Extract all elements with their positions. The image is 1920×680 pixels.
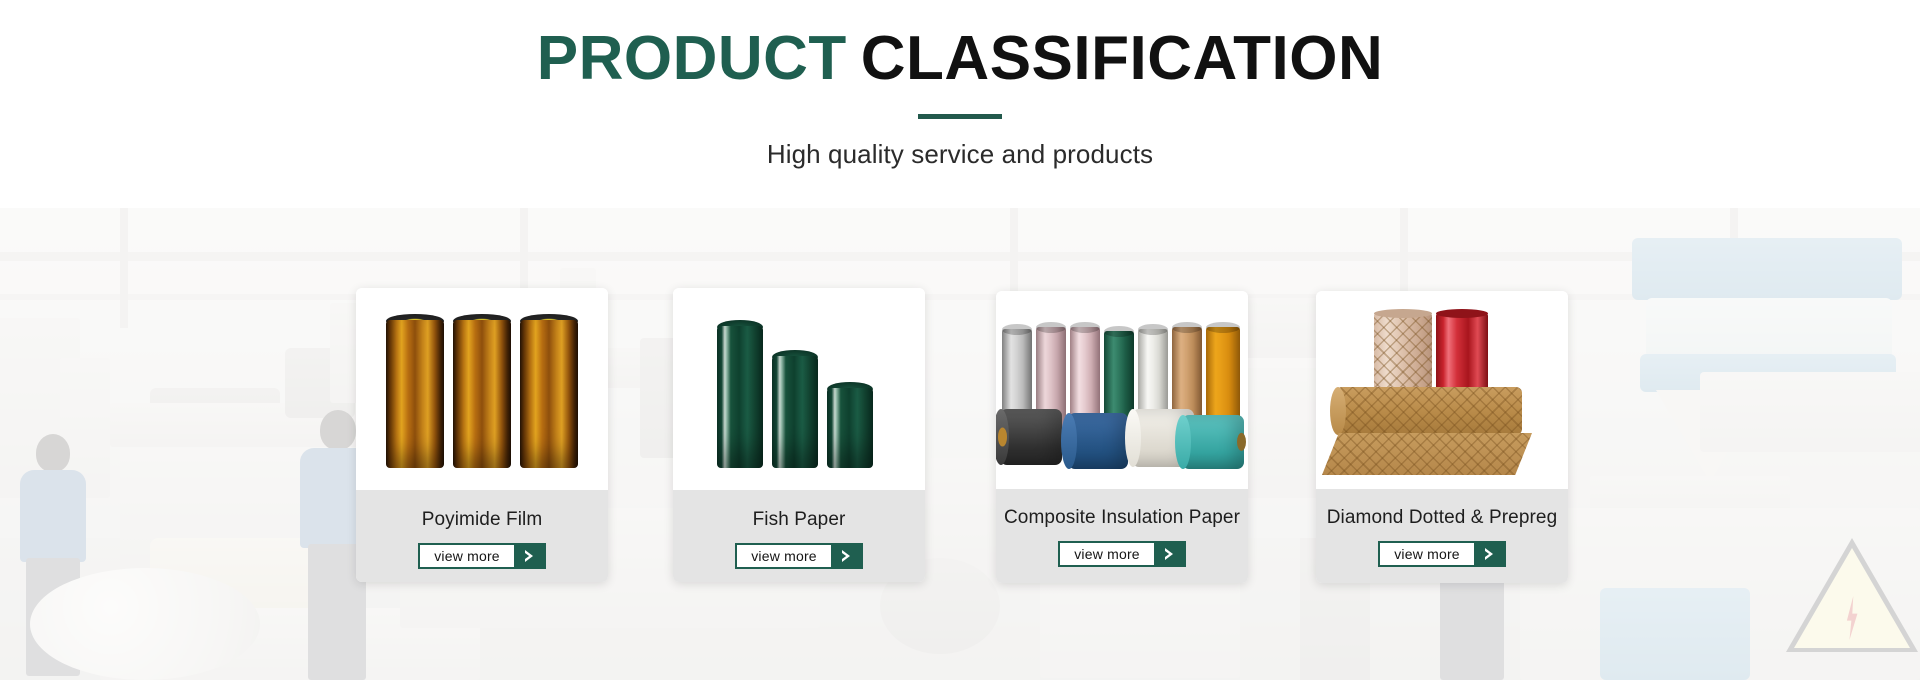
view-more-label: view more (737, 545, 831, 567)
product-title: Diamond Dotted & Prepreg (1316, 489, 1568, 529)
view-more-button-poyimide-film[interactable]: view more (418, 543, 546, 569)
view-more-button-fish-paper[interactable]: view more (735, 543, 863, 569)
product-title: Composite Insulation Paper (996, 489, 1248, 529)
product-label-composite-insulation-paper: Composite Insulation Paper view more (996, 489, 1248, 583)
product-card-poyimide-film[interactable]: Poyimide Film view more (356, 288, 608, 582)
chevron-right-icon (514, 545, 544, 567)
product-card-composite-insulation-paper[interactable]: Composite Insulation Paper view more (996, 291, 1248, 583)
view-more-label: view more (1380, 543, 1474, 565)
chevron-right-icon (1474, 543, 1504, 565)
product-image-fish-paper (673, 288, 925, 490)
product-image-diamond-dotted-prepreg (1316, 291, 1568, 489)
view-more-button-composite-insulation-paper[interactable]: view more (1058, 541, 1186, 567)
product-image-composite-insulation-paper (996, 291, 1248, 489)
chevron-right-icon (831, 545, 861, 567)
product-label-diamond-dotted-prepreg: Diamond Dotted & Prepreg view more (1316, 489, 1568, 583)
product-classification-page: PRODUCTCLASSIFICATION High quality servi… (0, 0, 1920, 680)
product-label-poyimide-film: Poyimide Film view more (356, 490, 608, 582)
product-card-fish-paper[interactable]: Fish Paper view more (673, 288, 925, 582)
chevron-right-icon (1154, 543, 1184, 565)
product-label-fish-paper: Fish Paper view more (673, 490, 925, 582)
view-more-button-diamond-dotted-prepreg[interactable]: view more (1378, 541, 1506, 567)
product-title: Poyimide Film (356, 490, 608, 531)
view-more-label: view more (1060, 543, 1154, 565)
product-cards: Poyimide Film view more (0, 0, 1920, 680)
product-image-poyimide-film (356, 288, 608, 490)
product-title: Fish Paper (673, 490, 925, 531)
view-more-label: view more (420, 545, 514, 567)
product-card-diamond-dotted-prepreg[interactable]: Diamond Dotted & Prepreg view more (1316, 291, 1568, 583)
